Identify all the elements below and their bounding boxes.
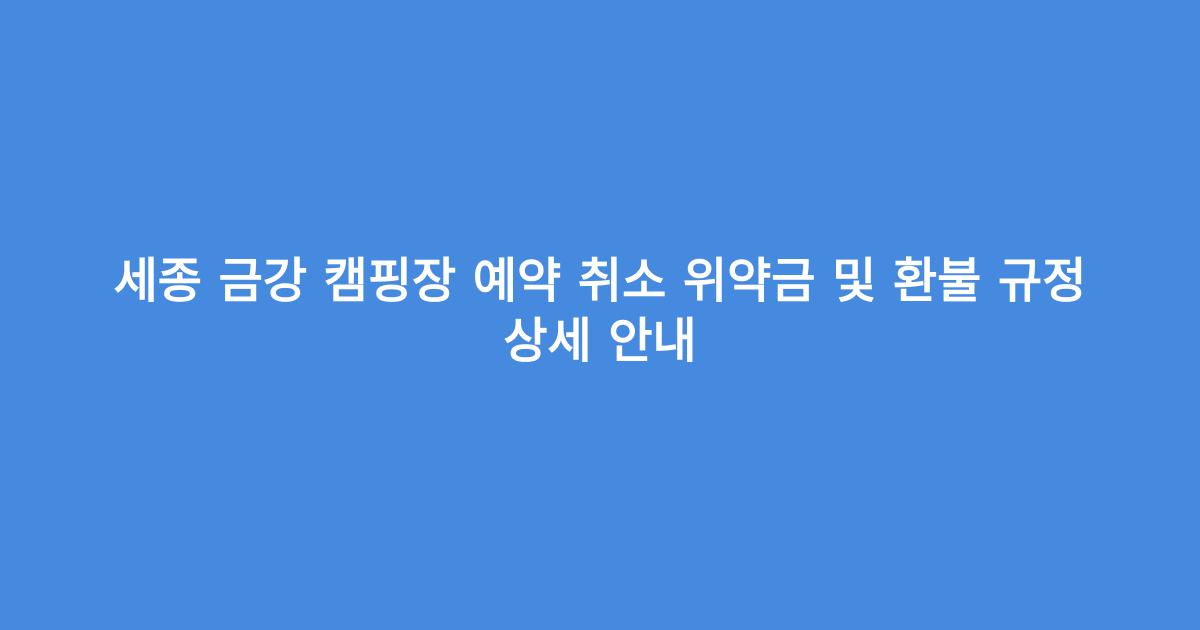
title-container: 세종 금강 캠핑장 예약 취소 위약금 및 환불 규정 상세 안내	[80, 251, 1120, 371]
page-title: 세종 금강 캠핑장 예약 취소 위약금 및 환불 규정 상세 안내	[80, 251, 1120, 371]
social-share-card: 세종 금강 캠핑장 예약 취소 위약금 및 환불 규정 상세 안내	[0, 0, 1200, 630]
